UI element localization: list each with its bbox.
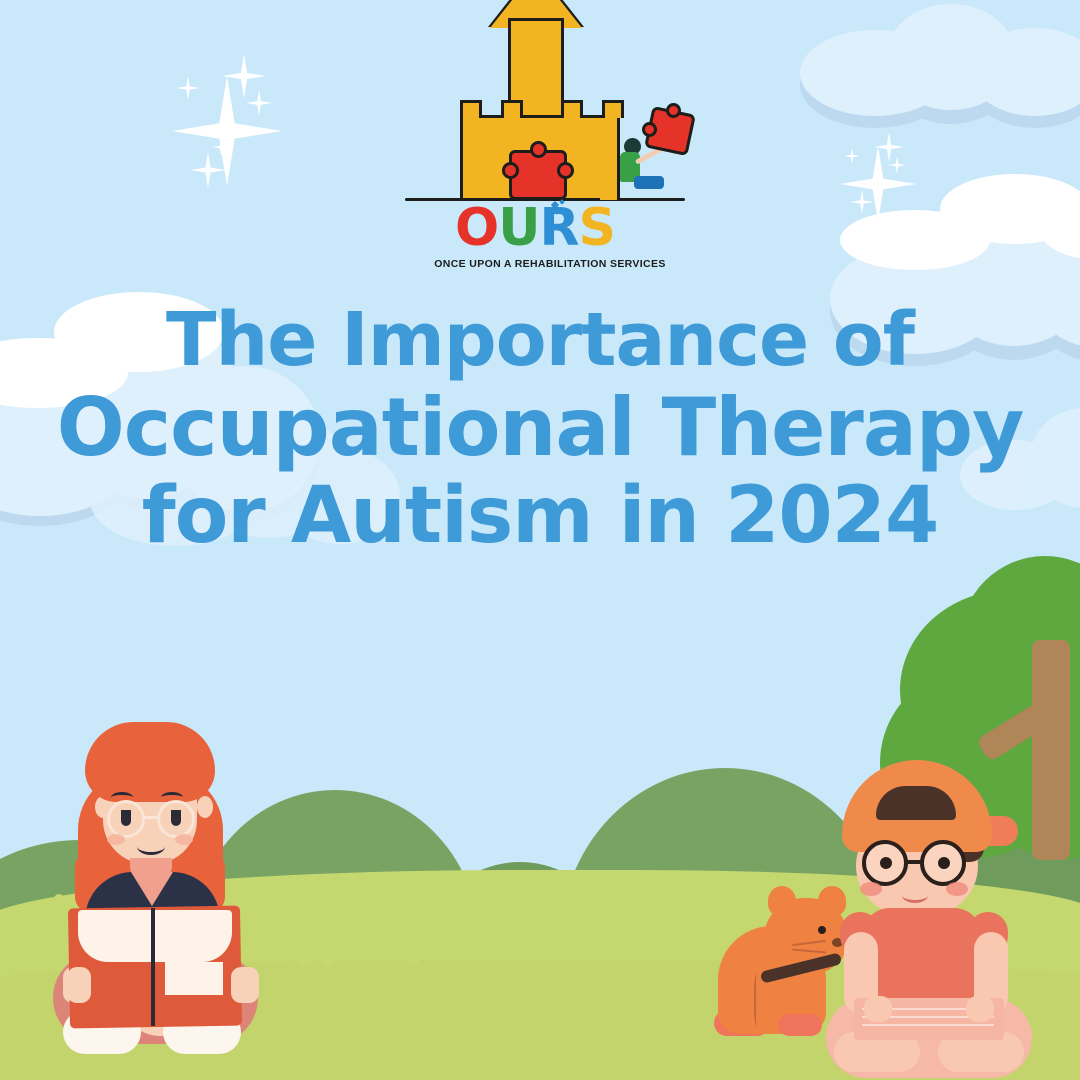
title-line-2: Occupational Therapy <box>0 384 1080 472</box>
sparkle-cluster-left <box>150 48 320 218</box>
logo-letter-o: O <box>455 202 498 254</box>
sparkle-cluster-right <box>828 128 938 238</box>
title-line-3: for Autism in 2024 <box>0 472 1080 560</box>
grass-tuft <box>300 942 311 966</box>
logo-tagline: ONCE UPON A REHABILITATION SERVICES <box>400 258 700 270</box>
logo-letter-s: S <box>579 202 615 254</box>
grass-tuft <box>408 940 419 964</box>
grass-tuft <box>560 930 571 958</box>
puzzle-knob <box>666 103 681 118</box>
brand-logo[interactable]: OURS ONCE UPON A REHABILITATION SERVICES <box>400 10 700 280</box>
puzzle-knob <box>642 122 657 137</box>
sparkle-icon <box>888 156 906 174</box>
sparkle-icon <box>844 148 860 164</box>
sparkle-icon <box>190 152 226 188</box>
logo-wordmark: OURS <box>455 202 645 254</box>
poster-canvas: OURS ONCE UPON A REHABILITATION SERVICES… <box>0 0 1080 1080</box>
grass-tuft <box>620 922 631 956</box>
grass-tuft <box>462 922 473 958</box>
puzzle-knob <box>502 162 519 179</box>
dog-paw <box>778 1014 822 1036</box>
girl-reading-character <box>45 712 275 1072</box>
puzzle-knob <box>530 141 547 158</box>
sparkle-icon <box>246 90 272 116</box>
boy-reading-character <box>820 760 1040 1080</box>
grass-tuft <box>322 936 333 966</box>
girl-bangs <box>97 726 203 788</box>
title-line-1: The Importance of <box>0 296 1080 384</box>
grass-tuft <box>648 928 659 958</box>
puzzle-knob <box>557 162 574 179</box>
logo-letter-u: U <box>498 202 539 254</box>
sparkle-icon <box>176 76 200 100</box>
grass-tuft <box>486 926 497 958</box>
sparkle-icon <box>850 190 874 214</box>
page-title: The Importance of Occupational Therapy f… <box>0 296 1080 560</box>
boy-fringe <box>876 786 956 820</box>
sparkle-dots-icon <box>552 200 566 214</box>
cloud-top-right <box>800 0 1080 120</box>
